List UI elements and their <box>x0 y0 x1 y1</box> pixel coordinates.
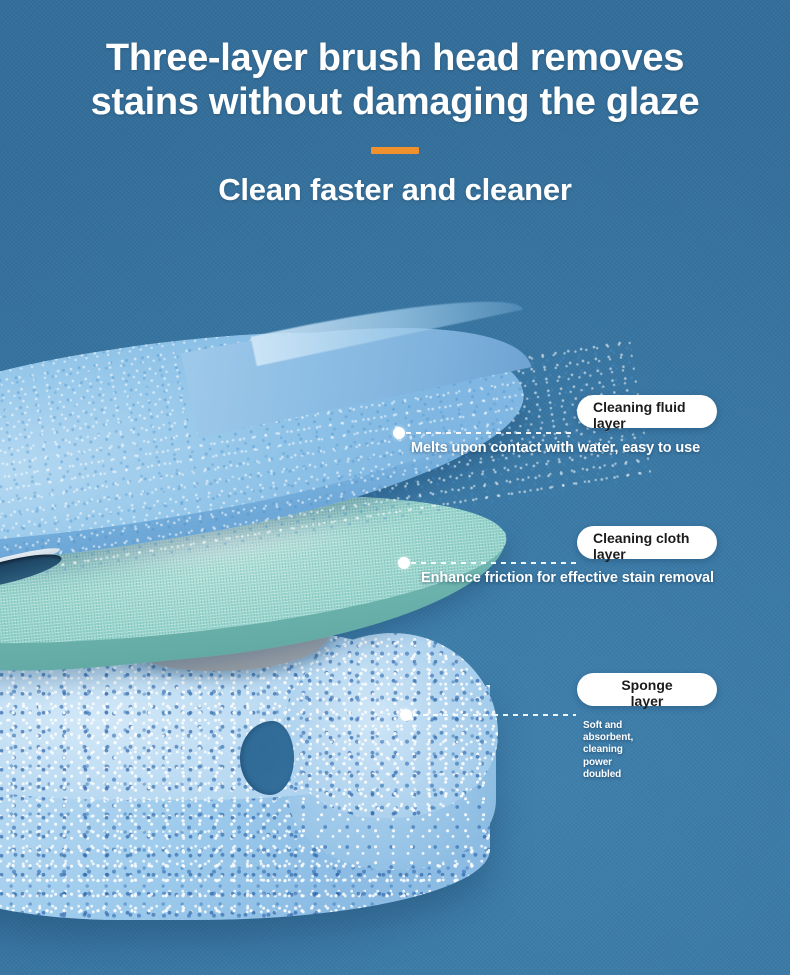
callout-leader-line-sponge <box>413 714 576 716</box>
callout-description-cleaning-cloth: Enhance friction for effective stain rem… <box>421 570 714 586</box>
callout-label-cleaning-fluid: Cleaning fluid layer <box>577 395 717 428</box>
callout-leader-line-cleaning-cloth <box>411 562 576 564</box>
callout-label-cleaning-cloth: Cleaning cloth layer <box>577 526 717 559</box>
page-subtitle: Clean faster and cleaner <box>0 172 790 208</box>
callout-leader-line-cleaning-fluid <box>406 432 576 434</box>
header: Three-layer brush head removes stains wi… <box>0 0 790 208</box>
accent-divider <box>371 147 419 154</box>
callout-dot-cleaning-cloth <box>398 557 410 569</box>
page-title: Three-layer brush head removes stains wi… <box>0 36 790 125</box>
callout-description-sponge: Soft and absorbent, cleaning power doubl… <box>583 720 633 781</box>
callout-description-cleaning-fluid: Melts upon contact with water, easy to u… <box>411 440 700 456</box>
callout-dot-cleaning-fluid <box>393 427 405 439</box>
infographic-page: Three-layer brush head removes stains wi… <box>0 0 790 975</box>
callout-dot-sponge <box>400 709 412 721</box>
sponge-notch <box>240 721 294 795</box>
callout-label-sponge: Sponge layer <box>577 673 717 706</box>
